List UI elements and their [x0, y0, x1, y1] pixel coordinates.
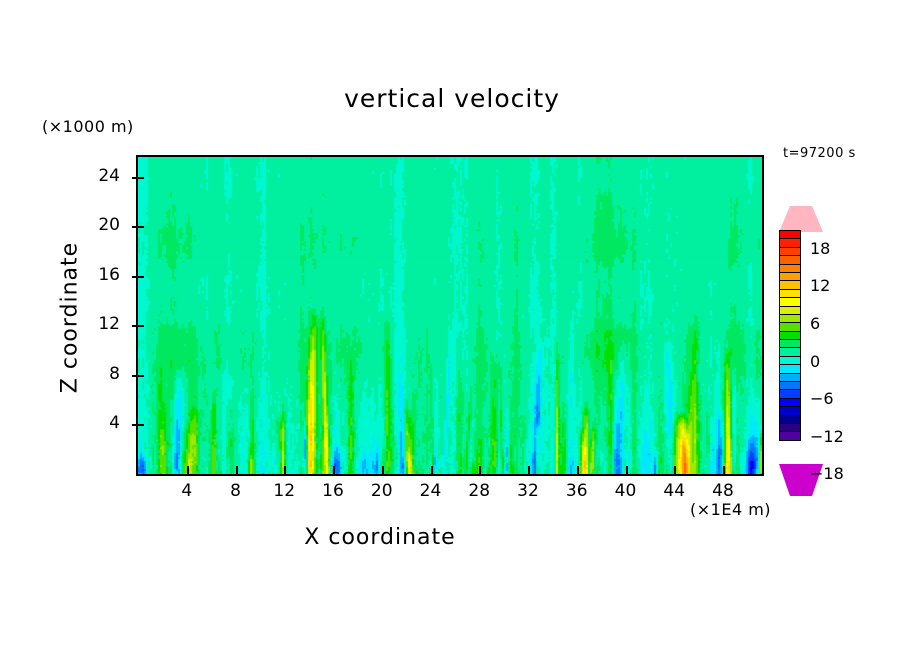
colorbar-tick-label: 12: [810, 276, 830, 295]
colorbar-tick-label: 18: [810, 239, 830, 258]
colorbar-tick-label: 6: [810, 314, 820, 333]
colorbar-tick-label: 0: [810, 352, 820, 371]
colorbar-tick-label: −12: [810, 427, 844, 446]
colorbar-label-layer: 181260−6−12−18: [0, 0, 904, 654]
colorbar-tick-label: −6: [810, 389, 834, 408]
colorbar-tick-label: −18: [810, 464, 844, 483]
